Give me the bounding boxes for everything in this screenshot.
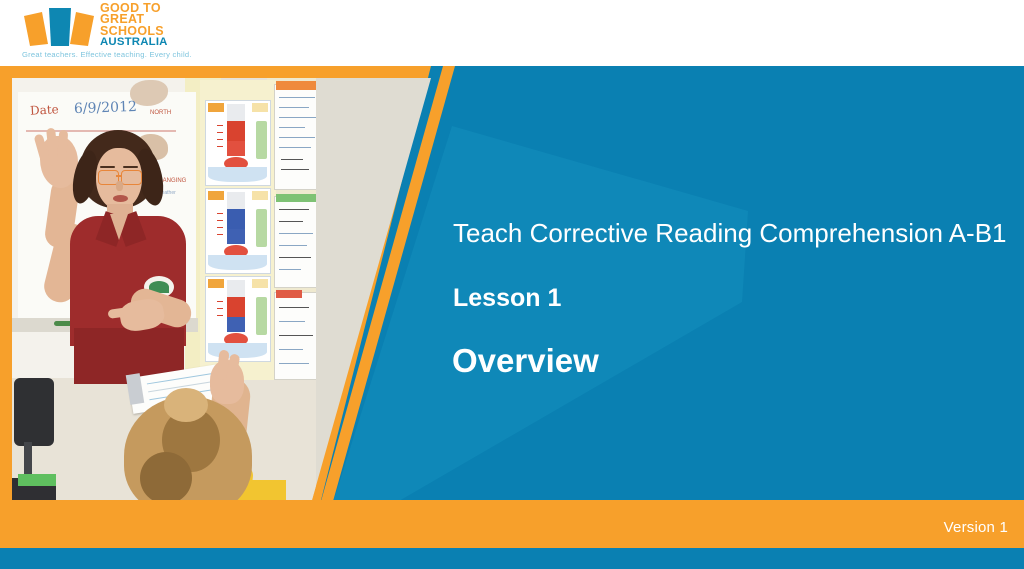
course-title: Teach Corrective Reading Comprehension A… [453, 218, 1007, 249]
whiteboard-date-value: 6/9/2012 [74, 99, 137, 117]
classroom-photo: Date 6/9/2012 NORTH CHANGING weather [12, 78, 316, 500]
version-label: Version 1 [944, 519, 1008, 536]
whiteboard-date-label: Date [30, 102, 59, 117]
topic-title: Overview [452, 342, 599, 380]
brand-line-4: AUSTRALIA [100, 37, 196, 48]
brand-wordmark: GOOD TO GREAT SCHOOLS AUSTRALIA [100, 3, 196, 49]
lesson-label: Lesson 1 [453, 284, 561, 313]
header-band: GOOD TO GREAT SCHOOLS AUSTRALIA Great te… [0, 0, 1024, 66]
brand-tagline: Great teachers. Effective teaching. Ever… [22, 50, 192, 59]
brand-logo[interactable]: GOOD TO GREAT SCHOOLS AUSTRALIA Great te… [22, 2, 194, 64]
slide: GOOD TO GREAT SCHOOLS AUSTRALIA Great te… [0, 0, 1024, 569]
slide-body: Date 6/9/2012 NORTH CHANGING weather [0, 66, 1024, 569]
three-cups-logo-icon [22, 4, 96, 49]
footer-blue-band [0, 548, 1024, 569]
